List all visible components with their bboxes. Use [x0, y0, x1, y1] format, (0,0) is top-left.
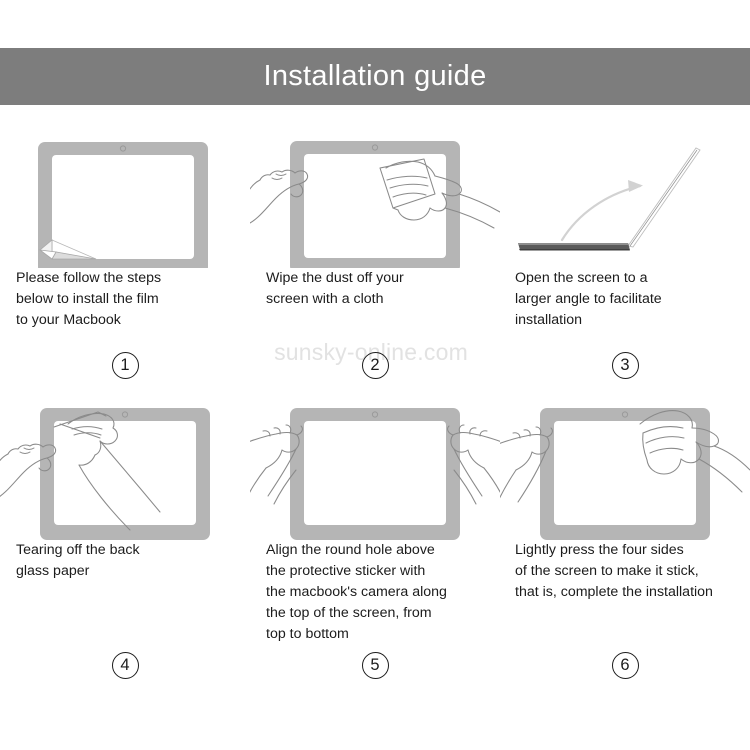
step-number-wrap-4: 4: [0, 652, 250, 679]
step-card-4: Tearing off the back glass paper 4: [0, 400, 250, 700]
steps-grid: Please follow the steps below to install…: [0, 128, 750, 700]
step-card-1: Please follow the steps below to install…: [0, 128, 250, 400]
step-number-wrap-2: 2: [250, 352, 500, 379]
step-caption-4: Tearing off the back glass paper: [0, 540, 250, 582]
step-caption-2: Wipe the dust off your screen with a clo…: [250, 268, 500, 310]
step-card-6: Lightly press the four sides of the scre…: [500, 400, 750, 700]
step-badge-3: 3: [612, 352, 639, 379]
step-card-5: Align the round hole above the protectiv…: [250, 400, 500, 700]
step-badge-5: 5: [362, 652, 389, 679]
step-caption-6: Lightly press the four sides of the scre…: [500, 540, 750, 603]
step-card-2: Wipe the dust off your screen with a clo…: [250, 128, 500, 400]
tablet-peeling-back-paper-icon: [0, 400, 250, 540]
step-number-wrap-1: 1: [0, 352, 250, 379]
step-caption-3: Open the screen to a larger angle to fac…: [500, 268, 750, 331]
tablet-with-peeling-film-icon: [0, 128, 250, 268]
step-number-wrap-5: 5: [250, 652, 500, 679]
laptop-opening-angle-icon: [500, 128, 750, 268]
step-badge-6: 6: [612, 652, 639, 679]
header-bar: Installation guide: [0, 48, 750, 105]
step-badge-4: 4: [112, 652, 139, 679]
page-title: Installation guide: [263, 62, 486, 91]
step-badge-1: 1: [112, 352, 139, 379]
tablet-press-four-sides-icon: [500, 400, 750, 540]
step-caption-1: Please follow the steps below to install…: [0, 268, 250, 331]
tablet-aligned-two-hands-icon: [250, 400, 500, 540]
step-badge-2: 2: [362, 352, 389, 379]
step-card-3: Open the screen to a larger angle to fac…: [500, 128, 750, 400]
step-number-wrap-6: 6: [500, 652, 750, 679]
step-caption-5: Align the round hole above the protectiv…: [250, 540, 500, 645]
step-number-wrap-3: 3: [500, 352, 750, 379]
tablet-wiped-with-cloth-icon: [250, 128, 500, 268]
